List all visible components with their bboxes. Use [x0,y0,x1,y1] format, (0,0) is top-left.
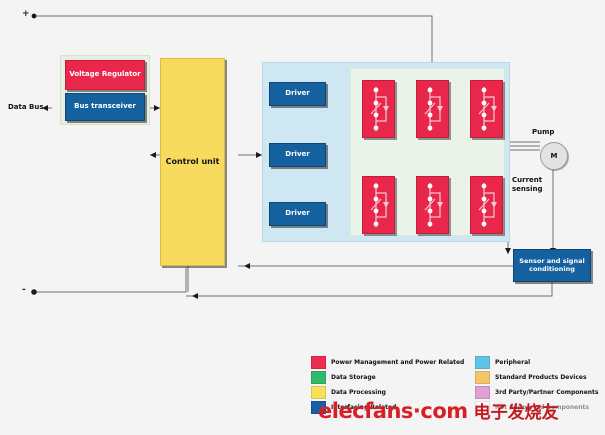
legend-item: Power Management and Power Related [311,355,471,370]
pump-label: Pump [532,128,554,136]
legend-label: Data Processing [331,389,386,396]
switch-symbol-icon [363,177,394,233]
legend-label: Data Storage [331,374,376,381]
power-switch-6[interactable] [470,176,503,234]
legend-swatch-peripheral [475,356,490,369]
driver-block-1[interactable]: Driver [269,82,326,106]
negative-terminal-sign: - [22,285,26,295]
sensor-signal-conditioning-block[interactable]: Sensor and signal conditioning [513,249,591,282]
watermark-chinese: 电子发烧友 [474,398,559,423]
legend-swatch-standard-products [475,371,490,384]
power-switch-2[interactable] [416,80,449,138]
switch-symbol-icon [417,81,448,137]
watermark-latin: elecfans·com [318,399,468,423]
switch-symbol-icon [471,177,502,233]
driver-block-3[interactable]: Driver [269,202,326,226]
power-switch-5[interactable] [416,176,449,234]
power-switch-4[interactable] [362,176,395,234]
current-sensing-label: Current sensing [512,176,558,194]
driver-block-2[interactable]: Driver [269,143,326,167]
positive-terminal-sign: + [22,9,30,19]
legend-label: 3rd Party/Partner Components [495,389,598,396]
legend-swatch-data-storage [311,371,326,384]
legend-item: Standard Products Devices [475,370,605,385]
watermark: elecfans·com 电子发烧友 [318,398,559,423]
control-unit-block[interactable]: Control unit [160,58,225,266]
power-switch-1[interactable] [362,80,395,138]
bus-transceiver-block[interactable]: Bus transceiver [65,93,145,121]
switch-symbol-icon [417,177,448,233]
switch-symbol-icon [363,81,394,137]
diagram-canvas: + - Data Bus Voltage Regulator Bus trans… [0,0,605,435]
legend-swatch-power-management [311,356,326,369]
legend-label: Power Management and Power Related [331,359,464,366]
voltage-regulator-block[interactable]: Voltage Regulator [65,60,145,90]
legend-label: Peripheral [495,359,530,366]
legend-item: Peripheral [475,355,605,370]
legend-item: Data Storage [311,370,471,385]
switch-symbol-icon [471,81,502,137]
pump-motor-symbol[interactable]: M [540,142,568,170]
data-bus-label: Data Bus [8,103,44,111]
power-switch-3[interactable] [470,80,503,138]
legend-label: Standard Products Devices [495,374,587,381]
